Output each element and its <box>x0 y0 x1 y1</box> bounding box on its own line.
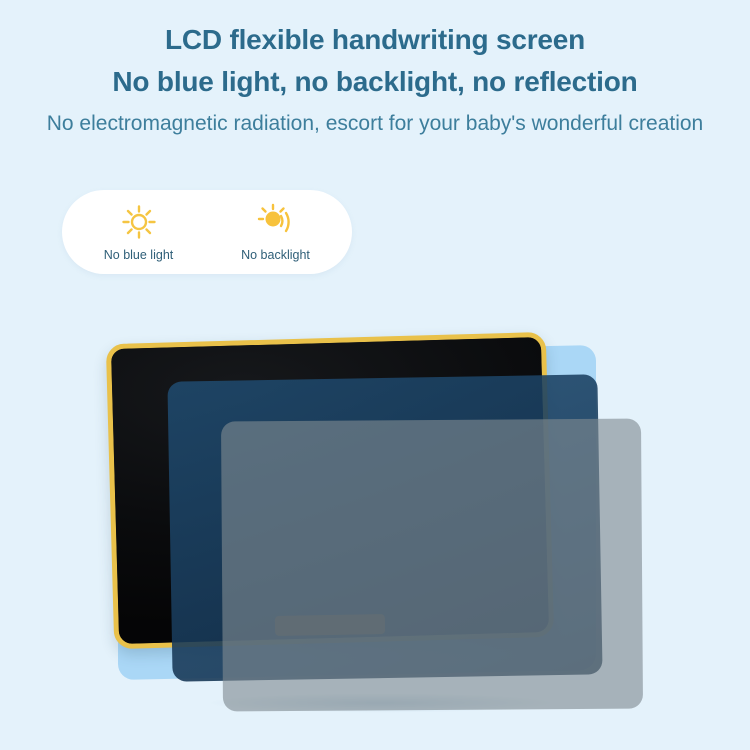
page-subtitle-bold: No blue light, no backlight, no reflecti… <box>0 64 750 100</box>
sun-rays-icon <box>256 202 296 242</box>
feature-label: No blue light <box>104 248 174 262</box>
feature-no-backlight: No backlight <box>211 202 341 262</box>
feature-label: No backlight <box>241 248 310 262</box>
page-description: No electromagnetic radiation, escort for… <box>45 110 705 138</box>
grey-film-sheet <box>221 419 643 712</box>
page-title: LCD flexible handwriting screen <box>0 22 750 58</box>
feature-no-blue-light: No blue light <box>74 202 204 262</box>
product-stack <box>0 290 750 750</box>
sun-outline-icon <box>119 202 159 242</box>
promo-page: LCD flexible handwriting screen No blue … <box>0 0 750 750</box>
feature-pill: No blue light <box>62 190 352 274</box>
heading-block: LCD flexible handwriting screen No blue … <box>0 22 750 138</box>
